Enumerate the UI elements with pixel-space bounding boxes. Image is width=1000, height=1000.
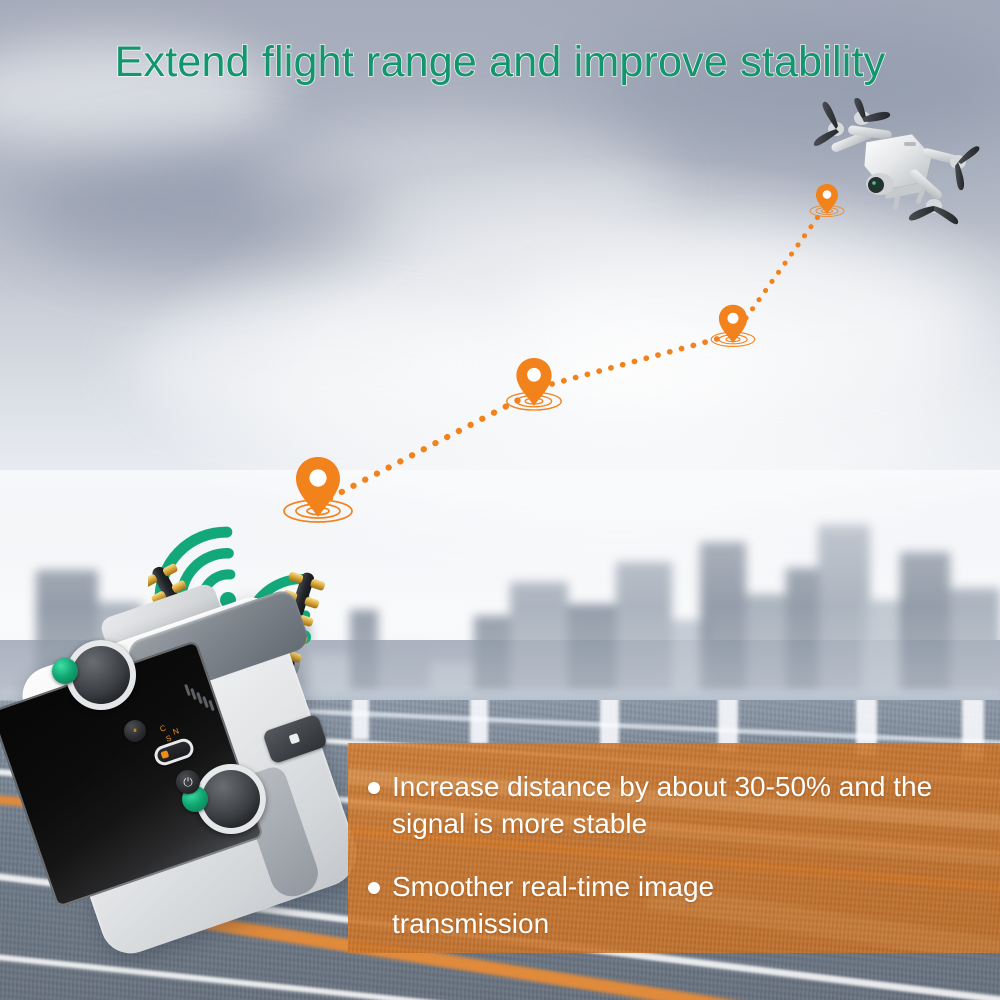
promo-graphic: Extend flight range and improve stabilit… bbox=[0, 0, 1000, 1000]
pause-return-button[interactable]: ⏸ bbox=[124, 720, 146, 742]
bullet-dot-icon bbox=[368, 782, 380, 794]
record-icon bbox=[289, 733, 300, 744]
drone-camera-gimbal bbox=[866, 173, 894, 195]
quadcopter-drone bbox=[808, 98, 998, 248]
drone-remote-controller[interactable]: ⏸ C S N ⏻ bbox=[10, 596, 370, 1000]
feature-bullet-1: Increase distance by about 30-50% and th… bbox=[368, 769, 982, 843]
cloud bbox=[520, 240, 980, 390]
pause-icon: ⏸ bbox=[133, 726, 137, 736]
page-title: Extend flight range and improve stabilit… bbox=[0, 38, 1000, 87]
bullet-dot-icon bbox=[368, 882, 380, 894]
cloud-shadow bbox=[20, 150, 380, 270]
cloud bbox=[120, 300, 520, 430]
feature-bullet-1-text: Increase distance by about 30-50% and th… bbox=[392, 769, 972, 843]
power-icon: ⏻ bbox=[183, 775, 193, 790]
feature-bullet-2: Smoother real-time image transmission bbox=[368, 869, 982, 943]
feature-callout-panel: Increase distance by about 30-50% and th… bbox=[348, 743, 1000, 953]
drone-arm-front-left bbox=[848, 98, 893, 140]
mode-indicator bbox=[160, 750, 169, 759]
left-stick-cap[interactable] bbox=[52, 658, 78, 684]
feature-bullet-2-text: Smoother real-time image transmission bbox=[392, 869, 722, 943]
drone-arm-rear-right bbox=[908, 168, 958, 225]
power-button[interactable]: ⏻ bbox=[176, 770, 200, 794]
